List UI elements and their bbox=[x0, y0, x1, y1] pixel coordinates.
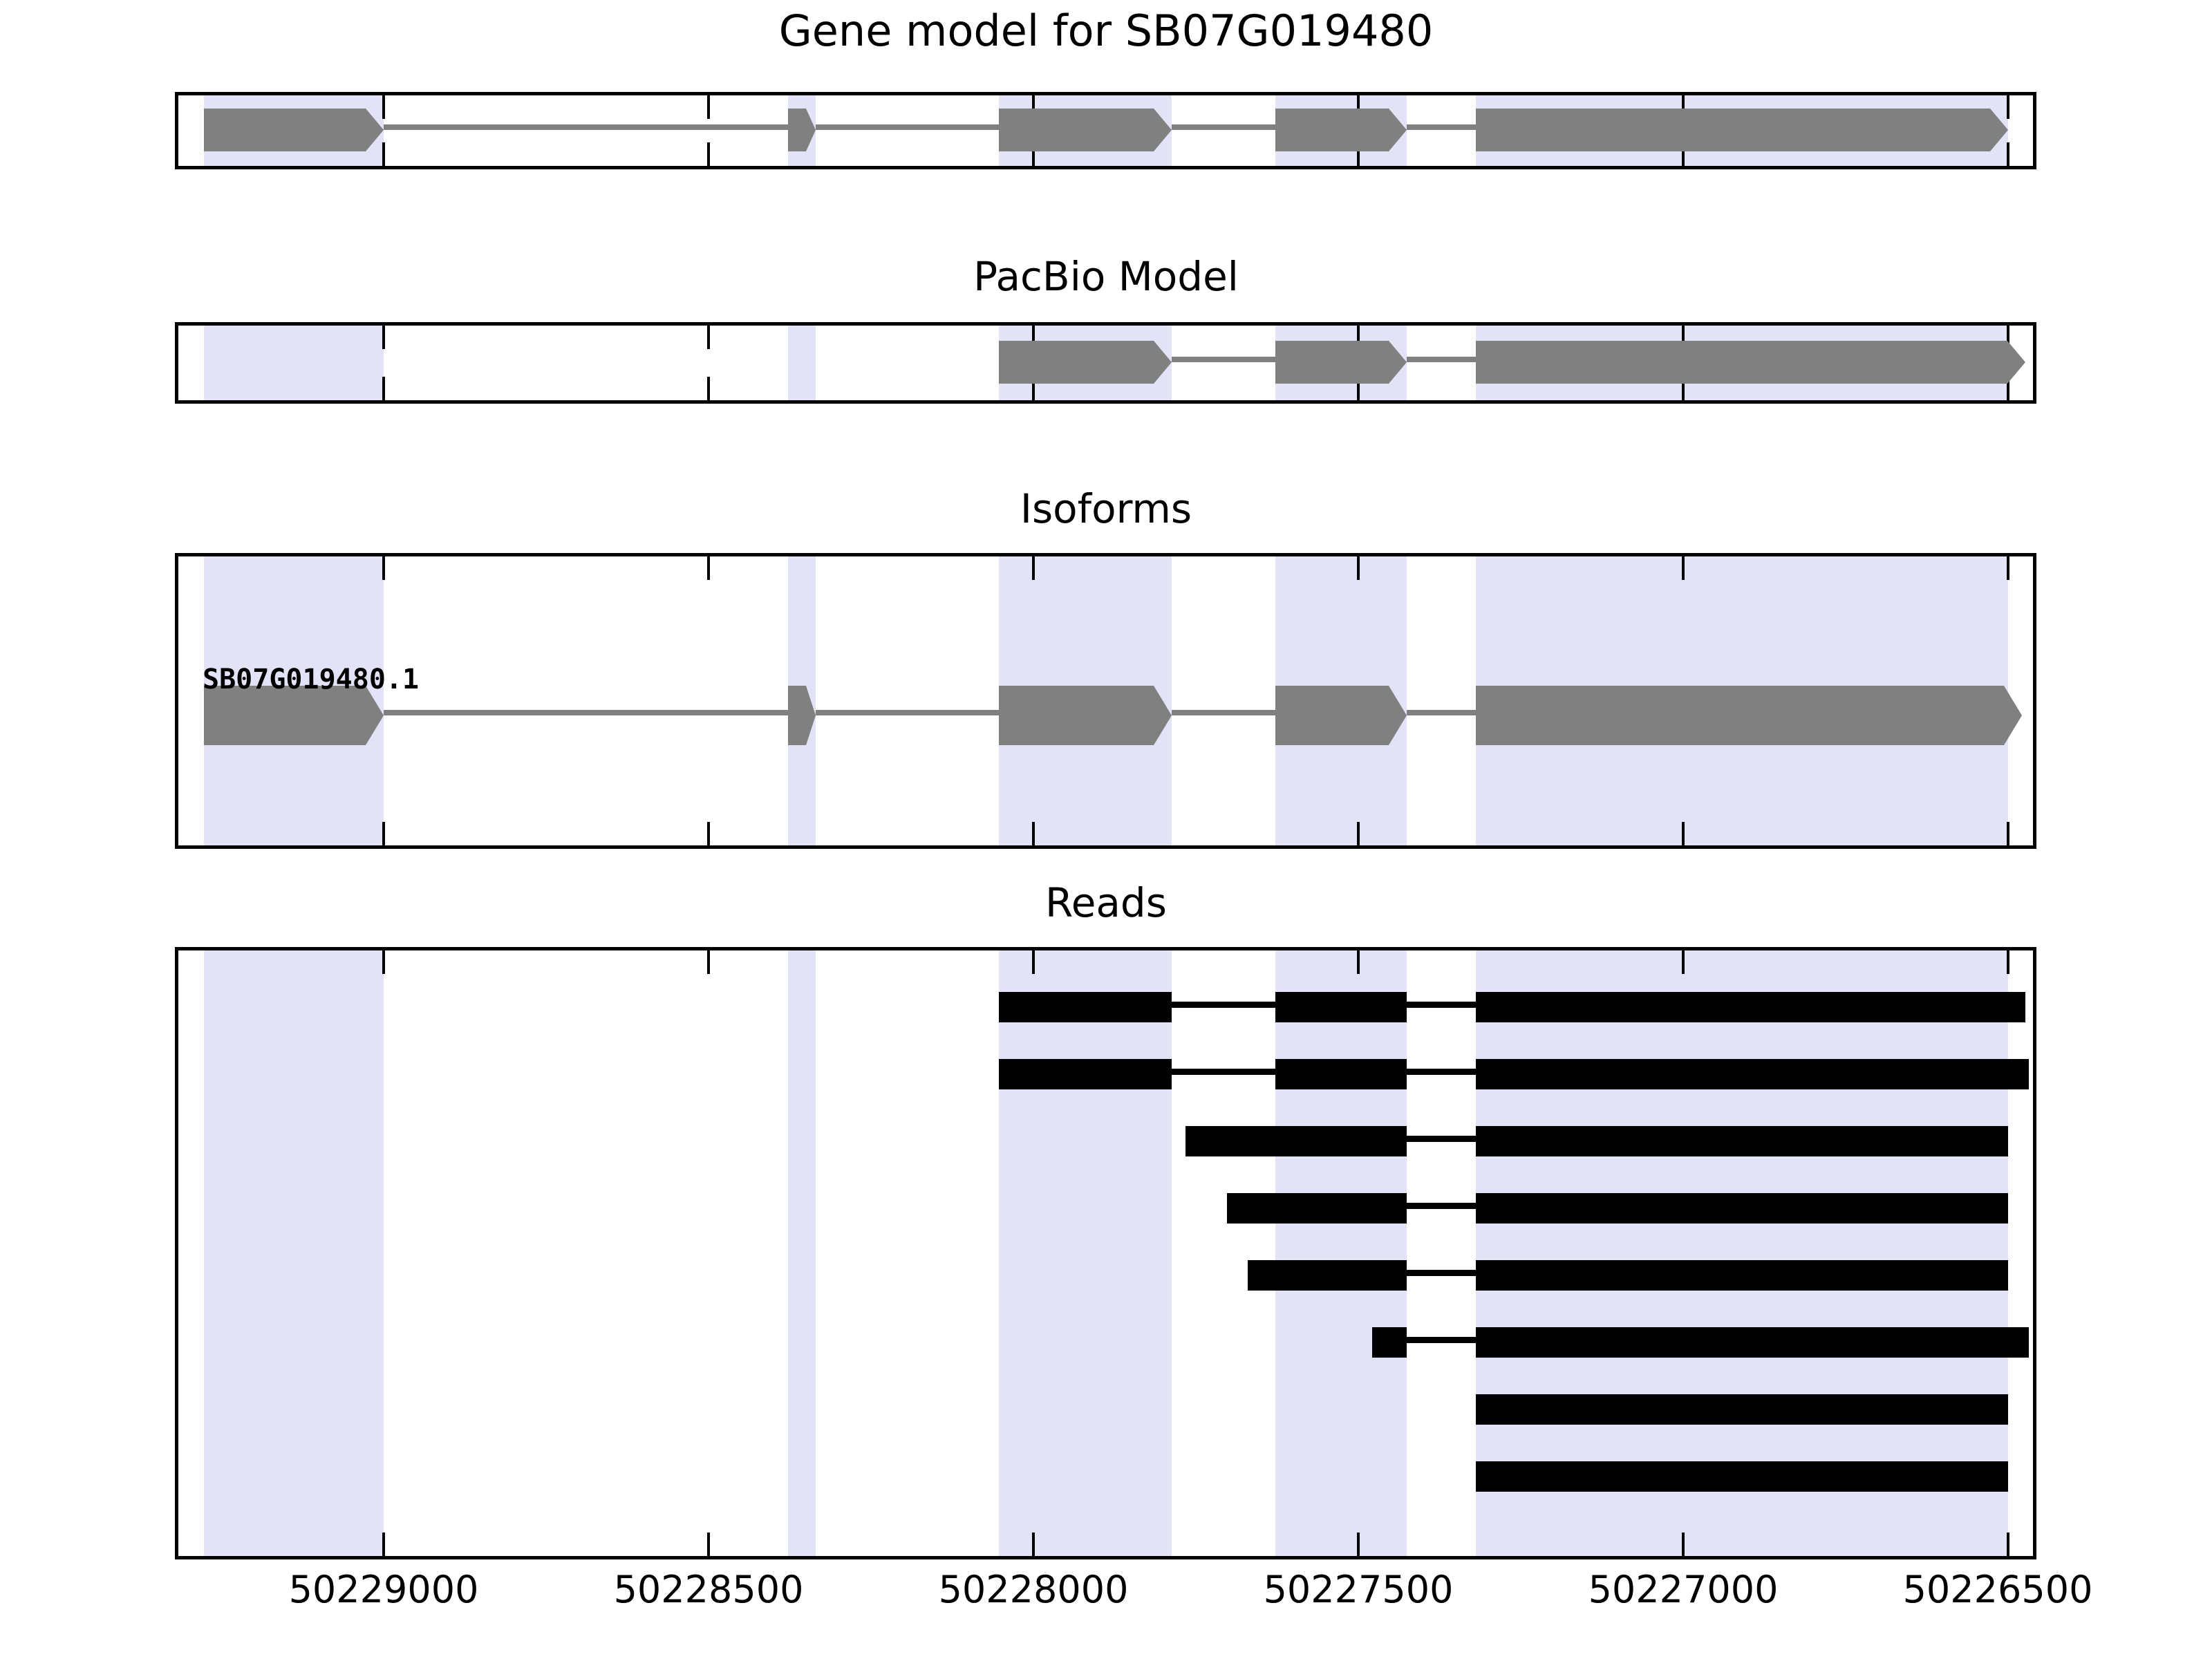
exon-block bbox=[1476, 109, 2008, 151]
pacbio-model-axes bbox=[175, 322, 2036, 404]
x-tick-1-top bbox=[382, 556, 385, 580]
xtick-label-3: 50228000 bbox=[939, 1568, 1129, 1611]
read-block bbox=[1476, 1394, 2008, 1425]
x-tick-2-bot bbox=[707, 1533, 710, 1556]
exon-block bbox=[999, 109, 1172, 151]
x-tick-3-bot bbox=[1032, 1533, 1035, 1556]
x-tick-1-bot bbox=[382, 822, 385, 845]
intron-line bbox=[1407, 124, 1476, 130]
read-block bbox=[1476, 1059, 2029, 1089]
highlight-band-3 bbox=[999, 950, 1172, 1556]
read-block bbox=[1372, 1327, 1407, 1358]
intron-line bbox=[1407, 357, 1476, 362]
intron-line bbox=[1172, 124, 1275, 130]
x-tick-6-bot bbox=[2007, 822, 2009, 845]
x-tick-5-bot bbox=[1682, 1533, 1685, 1556]
x-tick-4-bot bbox=[1357, 1533, 1360, 1556]
exon-block bbox=[1476, 341, 2025, 384]
x-tick-3-bot bbox=[1032, 822, 1035, 845]
highlight-band-2 bbox=[788, 950, 816, 1556]
x-tick-2-top bbox=[707, 95, 710, 119]
x-tick-5-top bbox=[1682, 950, 1685, 974]
read-block bbox=[1275, 992, 1407, 1022]
intron-line bbox=[1172, 1002, 1275, 1008]
x-tick-6-top bbox=[2007, 556, 2009, 580]
x-tick-2-top bbox=[707, 556, 710, 580]
x-tick-2-top bbox=[707, 950, 710, 974]
read-block bbox=[1248, 1260, 1407, 1291]
x-tick-1-top bbox=[382, 950, 385, 974]
x-tick-1-bot bbox=[382, 1533, 385, 1556]
x-tick-1-top bbox=[382, 95, 385, 119]
x-tick-2-bot bbox=[707, 377, 710, 400]
gene-model-axes bbox=[175, 92, 2036, 169]
genome-browser-figure: Gene model for SB07G019480 PacBio Model … bbox=[0, 0, 2212, 1659]
read-block bbox=[1476, 1260, 2008, 1291]
read-block bbox=[1476, 1126, 2008, 1156]
x-tick-6-bot bbox=[2007, 1533, 2009, 1556]
intron-line bbox=[1407, 1203, 1476, 1209]
x-tick-5-bot bbox=[1682, 822, 1685, 845]
reads-axes bbox=[175, 947, 2036, 1559]
highlight-band-2 bbox=[788, 326, 816, 400]
x-tick-1-bot bbox=[382, 142, 385, 166]
x-tick-6-top bbox=[2007, 950, 2009, 974]
x-tick-1-top bbox=[382, 326, 385, 349]
exon-block bbox=[1275, 341, 1407, 384]
intron-line bbox=[1407, 1270, 1476, 1276]
intron-line bbox=[1407, 1069, 1476, 1075]
intron-line bbox=[1407, 1002, 1476, 1008]
intron-line bbox=[1407, 710, 1476, 715]
xtick-label-5: 50227000 bbox=[1588, 1568, 1779, 1611]
panel-title-isoforms: Isoforms bbox=[0, 485, 2212, 532]
intron-line bbox=[1172, 1069, 1275, 1075]
read-block bbox=[1275, 1059, 1407, 1089]
intron-line bbox=[1407, 1136, 1476, 1142]
intron-line bbox=[816, 124, 999, 130]
exon-block bbox=[999, 341, 1172, 384]
xtick-label-1: 50229000 bbox=[289, 1568, 479, 1611]
x-tick-4-top bbox=[1357, 950, 1360, 974]
highlight-band-1 bbox=[204, 950, 384, 1556]
intron-line bbox=[384, 710, 788, 715]
x-tick-3-top bbox=[1032, 556, 1035, 580]
exon-block bbox=[999, 686, 1172, 745]
x-tick-1-bot bbox=[382, 377, 385, 400]
read-block bbox=[1476, 992, 2025, 1022]
read-block bbox=[1476, 1193, 2008, 1224]
read-block bbox=[1185, 1126, 1407, 1156]
intron-line bbox=[1172, 710, 1275, 715]
intron-line bbox=[816, 710, 999, 715]
exon-block bbox=[1275, 109, 1407, 151]
isoform-label: SB07G019480.1 bbox=[203, 664, 419, 695]
x-tick-4-top bbox=[1357, 556, 1360, 580]
x-tick-3-top bbox=[1032, 950, 1035, 974]
x-tick-5-top bbox=[1682, 556, 1685, 580]
read-block bbox=[1227, 1193, 1407, 1224]
x-tick-4-bot bbox=[1357, 822, 1360, 845]
x-tick-2-bot bbox=[707, 142, 710, 166]
page-title: Gene model for SB07G019480 bbox=[0, 6, 2212, 56]
exon-block bbox=[204, 109, 384, 151]
highlight-band-1 bbox=[204, 326, 384, 400]
x-tick-2-top bbox=[707, 326, 710, 349]
x-tick-2-bot bbox=[707, 822, 710, 845]
read-block bbox=[999, 992, 1172, 1022]
highlight-band-4 bbox=[1275, 950, 1407, 1556]
x-tick-6-bot bbox=[2007, 142, 2009, 166]
exon-block bbox=[1476, 686, 2022, 745]
read-block bbox=[1476, 1327, 2029, 1358]
xtick-label-2: 50228500 bbox=[614, 1568, 804, 1611]
xtick-label-4: 50227500 bbox=[1264, 1568, 1454, 1611]
panel-title-reads: Reads bbox=[0, 879, 2212, 926]
isoforms-axes: SB07G019480.1 bbox=[175, 553, 2036, 849]
intron-line bbox=[1407, 1337, 1476, 1343]
intron-line bbox=[384, 124, 788, 130]
read-block bbox=[1476, 1461, 2008, 1492]
x-tick-6-top bbox=[2007, 95, 2009, 119]
panel-title-pacbio: PacBio Model bbox=[0, 253, 2212, 300]
exon-block bbox=[1275, 686, 1407, 745]
xtick-label-6: 50226500 bbox=[1903, 1568, 2093, 1611]
read-block bbox=[999, 1059, 1172, 1089]
intron-line bbox=[1172, 357, 1275, 362]
